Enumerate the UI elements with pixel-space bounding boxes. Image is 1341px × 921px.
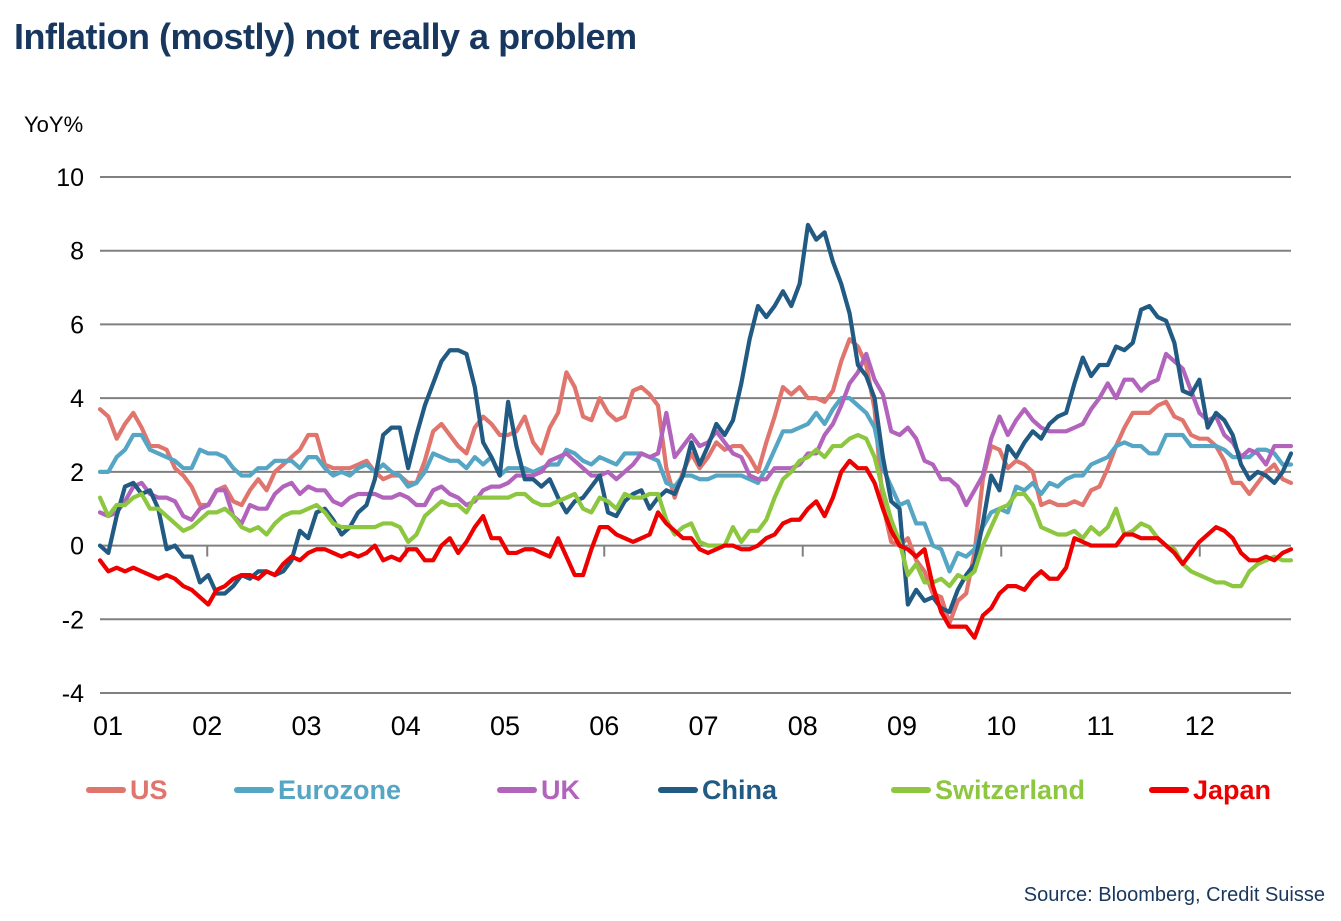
legend-label: Japan — [1193, 777, 1271, 804]
source-note: Source: Bloomberg, Credit Suisse — [1024, 884, 1325, 907]
legend-item-uk[interactable]: UK — [497, 772, 580, 808]
y-tick-label: 6 — [70, 311, 84, 339]
legend-swatch-icon — [497, 787, 537, 793]
legend-label: UK — [541, 777, 580, 804]
x-tick-label: 01 — [93, 711, 123, 741]
y-tick-label: 0 — [70, 533, 84, 561]
y-axis-tick-labels: 1086420-2-4 — [56, 164, 84, 708]
legend-label: US — [130, 777, 168, 804]
x-tick-label: 10 — [986, 711, 1016, 741]
x-tick-label: 12 — [1185, 711, 1215, 741]
chart-legend: USEurozoneUKChinaSwitzerlandJapan — [86, 772, 1276, 812]
y-tick-label: 2 — [70, 459, 84, 487]
x-axis-tick-labels: 010203040506070809101112 — [93, 711, 1215, 741]
x-tick-label: 07 — [688, 711, 718, 741]
y-tick-label: -2 — [62, 606, 84, 634]
legend-swatch-icon — [234, 787, 274, 793]
y-tick-label: 10 — [56, 164, 84, 192]
series-line-uk — [100, 354, 1291, 524]
data-series — [100, 225, 1291, 638]
y-tick-label: 8 — [70, 238, 84, 266]
legend-swatch-icon — [1149, 787, 1189, 793]
legend-item-switzerland[interactable]: Switzerland — [891, 772, 1085, 808]
legend-item-china[interactable]: China — [658, 772, 777, 808]
x-tick-label: 03 — [291, 711, 321, 741]
legend-item-japan[interactable]: Japan — [1149, 772, 1271, 808]
legend-swatch-icon — [658, 787, 698, 793]
legend-item-us[interactable]: US — [86, 772, 168, 808]
legend-label: Eurozone — [278, 777, 401, 804]
series-line-china — [100, 225, 1291, 612]
legend-swatch-icon — [86, 787, 126, 793]
series-line-japan — [100, 461, 1291, 638]
x-tick-label: 09 — [887, 711, 917, 741]
y-tick-label: -4 — [62, 680, 84, 708]
x-tick-label: 02 — [192, 711, 222, 741]
x-tick-label: 06 — [589, 711, 619, 741]
x-tick-label: 04 — [391, 711, 421, 741]
legend-item-eurozone[interactable]: Eurozone — [234, 772, 401, 808]
legend-swatch-icon — [891, 787, 931, 793]
x-tick-label: 08 — [788, 711, 818, 741]
gridlines — [100, 177, 1291, 693]
series-line-us — [100, 339, 1291, 623]
x-tick-label: 05 — [490, 711, 520, 741]
x-tick-label: 11 — [1086, 711, 1114, 741]
legend-label: Switzerland — [935, 777, 1085, 804]
legend-label: China — [702, 777, 777, 804]
y-tick-label: 4 — [70, 385, 84, 413]
